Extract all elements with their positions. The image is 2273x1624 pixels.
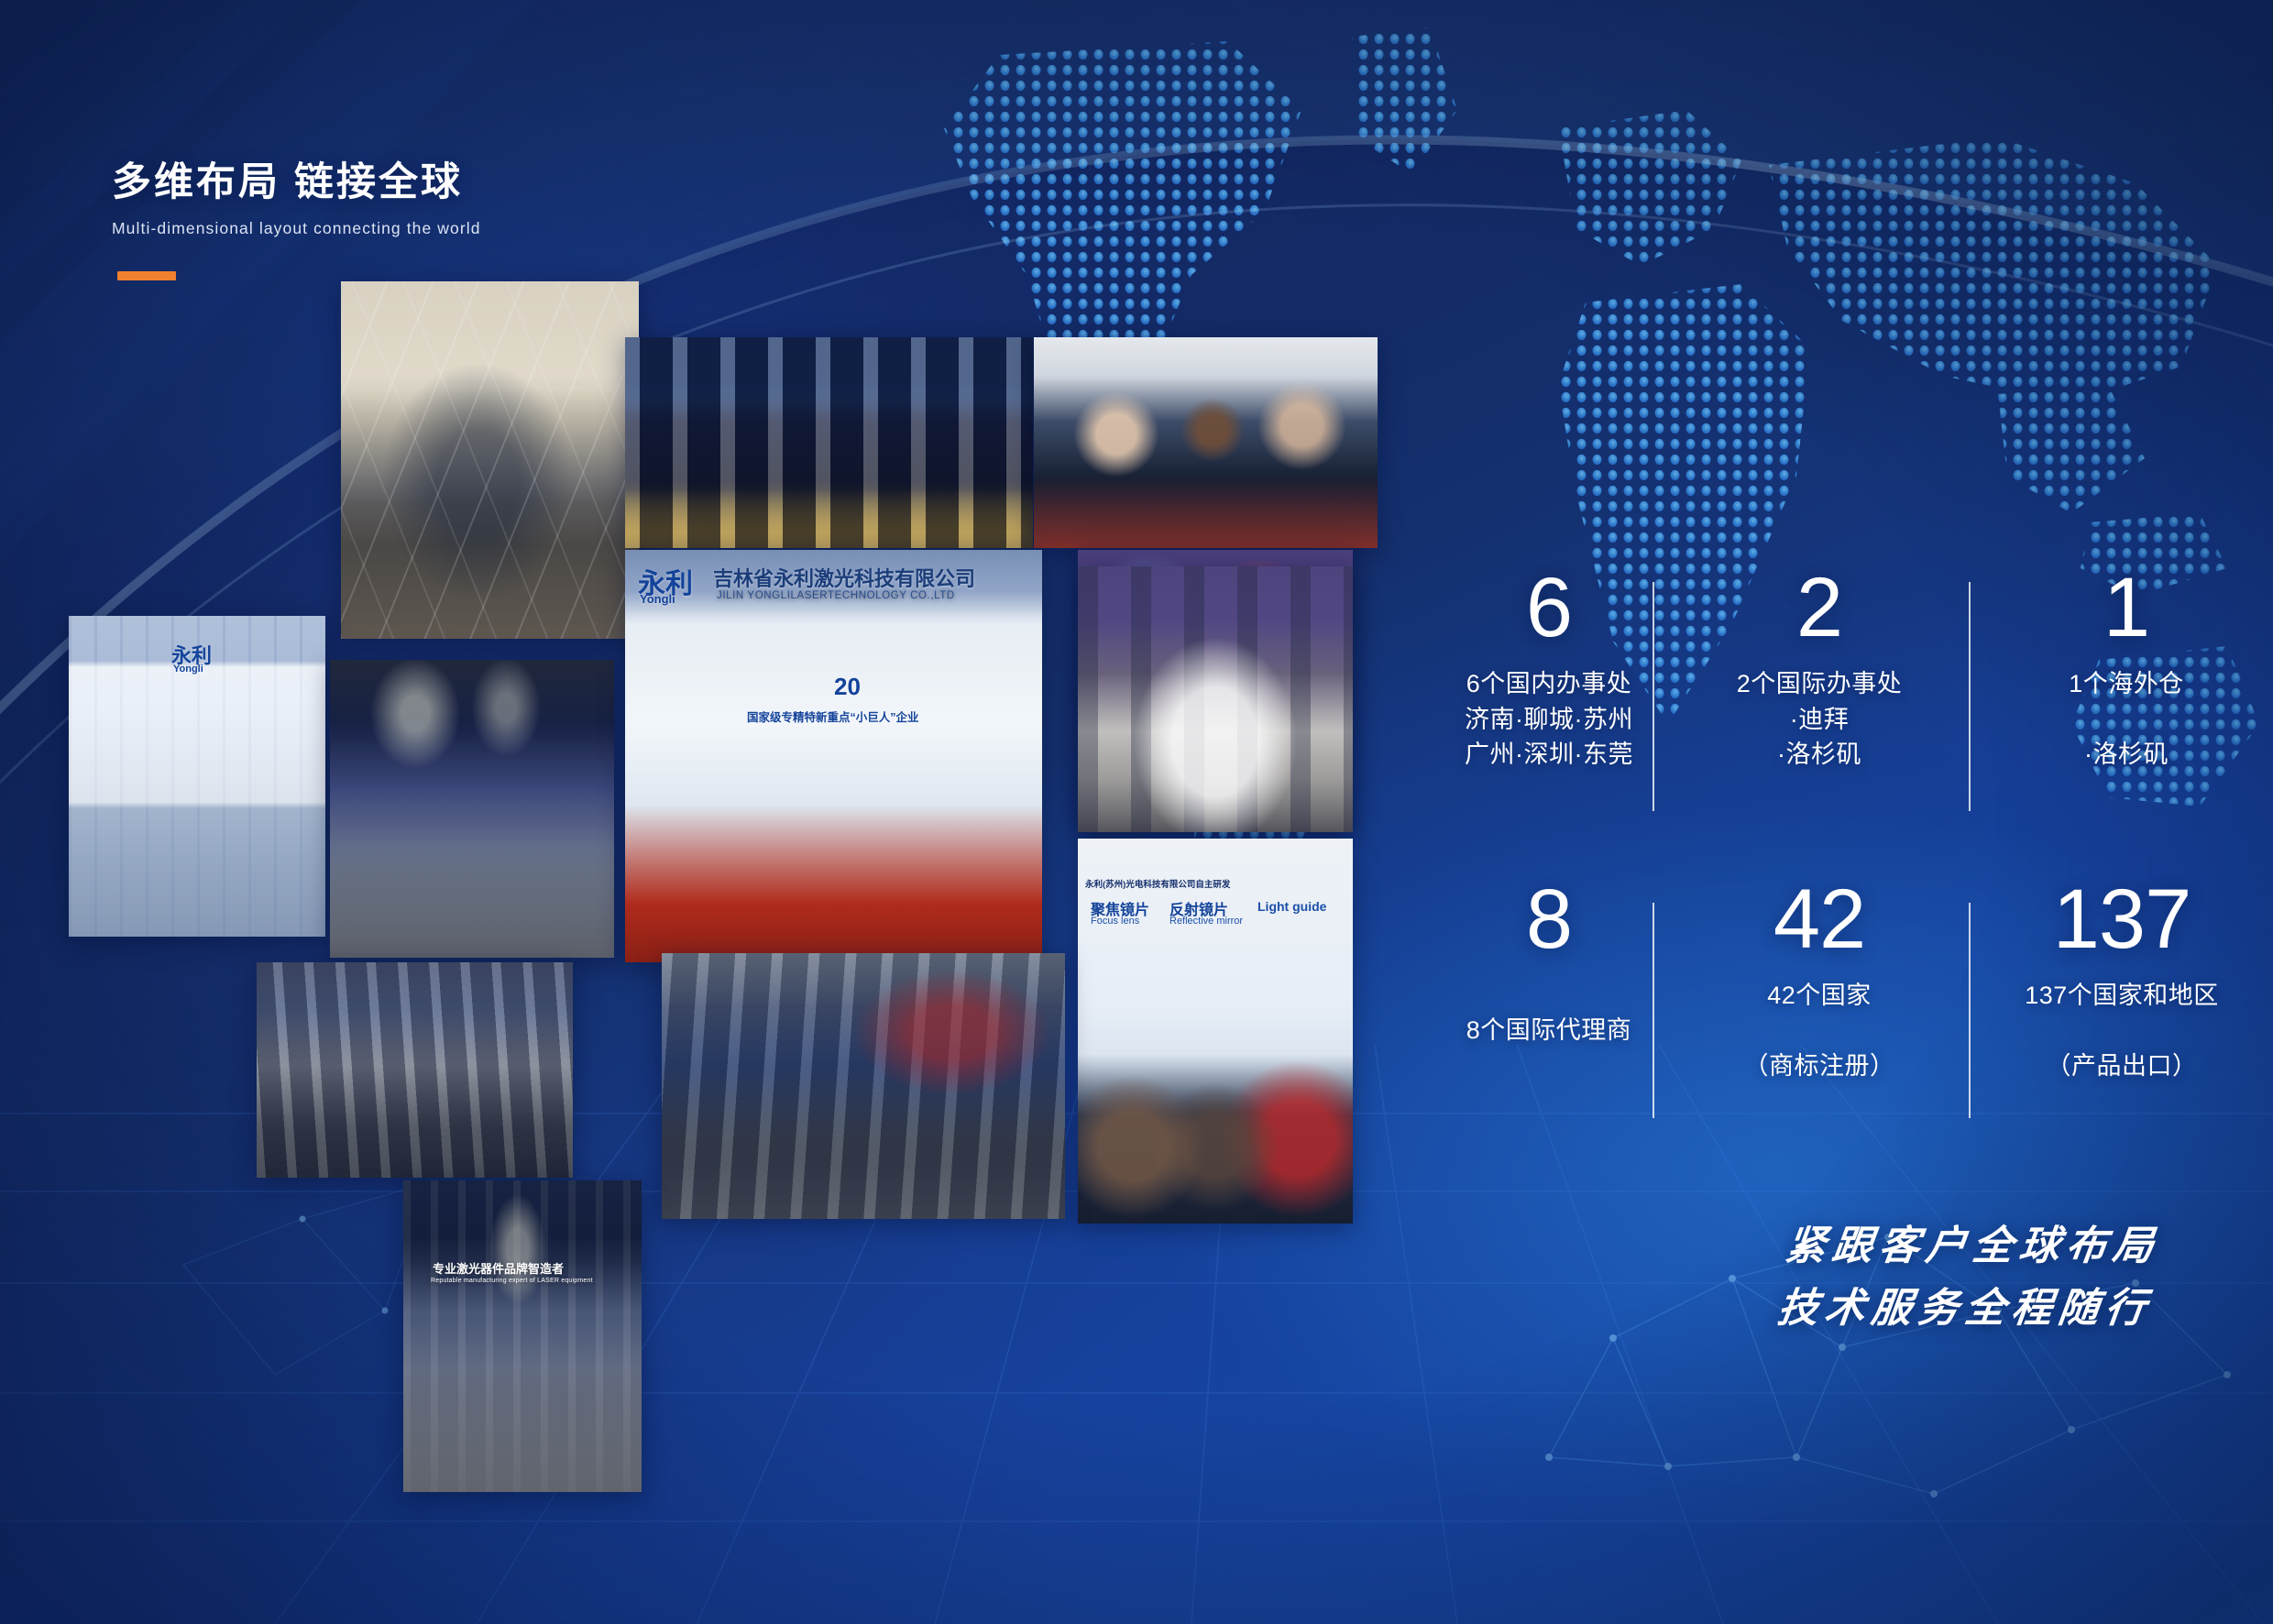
stat-export-countries: 137 137个国家和地区 （产品出口） bbox=[1980, 880, 2264, 1083]
stat-trademark-countries-label: 42个国家 （商标注册） bbox=[1686, 978, 1952, 1083]
lens-owner-label: 永利(苏州)光电科技有限公司自主研发 bbox=[1085, 877, 1230, 890]
stat-overseas-warehouse-number: 1 bbox=[1998, 568, 2255, 648]
stat-international-agents-label: 8个国际代理商 bbox=[1393, 978, 1705, 1082]
photo-booth-dark bbox=[330, 660, 614, 958]
stat-overseas-warehouse-label: 1个海外仓 ·洛杉矶 bbox=[1998, 666, 2255, 772]
poster-canvas: 多维布局 链接全球 Multi-dimensional layout conne… bbox=[0, 0, 2273, 1624]
lens-mirror-en-label: Reflective mirror bbox=[1169, 916, 1243, 927]
stat-overseas-warehouse: 1 1个海外仓 ·洛杉矶 bbox=[1998, 568, 2255, 772]
photo-team-suits bbox=[625, 337, 1033, 548]
photo-crowd-visitors bbox=[257, 962, 573, 1178]
stat-divider-1 bbox=[1653, 582, 1654, 811]
photo-lens-banner: 永利(苏州)光电科技有限公司自主研发 聚焦镜片 Focus lens 反射镜片 … bbox=[1078, 839, 1353, 1223]
stat-trademark-countries: 42 42个国家 （商标注册） bbox=[1686, 880, 1952, 1083]
stat-trademark-countries-number: 42 bbox=[1686, 880, 1952, 960]
stat-export-countries-label: 137个国家和地区 （产品出口） bbox=[1980, 978, 2264, 1083]
headline-block: 多维布局 链接全球 Multi-dimensional layout conne… bbox=[112, 161, 481, 238]
main-booth-brand-en-label: Yongli bbox=[640, 592, 675, 606]
main-booth-company-cn-label: 吉林省永利激光科技有限公司 bbox=[713, 563, 975, 592]
slogan-line-2: 技术服务全程随行 bbox=[1774, 1278, 2156, 1340]
stat-domestic-offices: 6 6个国内办事处 济南·聊城·苏州 广州·深圳·东莞 bbox=[1393, 568, 1705, 772]
page-title: 多维布局 链接全球 bbox=[112, 161, 481, 204]
lens-guide-en-label: Light guide bbox=[1257, 899, 1326, 914]
stat-domestic-offices-number: 6 bbox=[1393, 568, 1705, 648]
stat-international-offices: 2 2个国际办事处 ·迪拜 ·洛杉矶 bbox=[1686, 568, 1952, 772]
stat-international-offices-label: 2个国际办事处 ·迪拜 ·洛杉矶 bbox=[1686, 666, 1952, 772]
main-booth-award-label: 国家级专精特新重点“小巨人”企业 bbox=[747, 708, 919, 725]
stat-export-countries-number: 137 bbox=[1980, 880, 2264, 960]
stat-international-offices-number: 2 bbox=[1686, 568, 1952, 648]
calligraphy-slogan: 紧跟客户全球布局 技术服务全程随行 bbox=[1774, 1215, 2164, 1340]
orange-accent-bar bbox=[117, 271, 176, 280]
night-booth-slogan-cn-label: 专业激光器件品牌智造者 bbox=[433, 1259, 564, 1277]
photo-showroom-timeline: 永利 Yongli bbox=[69, 616, 325, 937]
photo-expo-hall bbox=[662, 953, 1065, 1219]
slogan-line-1: 紧跟客户全球布局 bbox=[1782, 1215, 2163, 1278]
stat-divider-3 bbox=[1653, 903, 1654, 1118]
main-booth-anniversary-label: 20 bbox=[834, 673, 861, 701]
main-booth-company-en-label: JILIN YONGLILASERTECHNOLOGY CO.,LTD bbox=[717, 590, 955, 601]
stat-divider-2 bbox=[1969, 582, 1971, 811]
photo-main-booth: 永利 Yongli 吉林省永利激光科技有限公司 JILIN YONGLILASE… bbox=[625, 550, 1042, 962]
stat-international-agents-number: 8 bbox=[1393, 880, 1705, 960]
night-booth-slogan-en-label: Reputable manufacturing expert of LASER … bbox=[431, 1278, 593, 1284]
stat-divider-4 bbox=[1969, 903, 1971, 1118]
stat-domestic-offices-label: 6个国内办事处 济南·聊城·苏州 广州·深圳·东莞 bbox=[1393, 666, 1705, 772]
photo-expo-booth-night: 专业激光器件品牌智造者 Reputable manufacturing expe… bbox=[403, 1180, 642, 1492]
photo-customer-talk bbox=[1034, 337, 1378, 548]
page-subtitle: Multi-dimensional layout connecting the … bbox=[112, 219, 481, 238]
photo-meeting-room bbox=[341, 281, 639, 639]
showroom-brand-en-label: Yongli bbox=[173, 664, 203, 675]
lens-focus-en-label: Focus lens bbox=[1091, 916, 1139, 927]
stat-international-agents: 8 8个国际代理商 bbox=[1393, 880, 1705, 1083]
photo-dinner-gathering bbox=[1078, 566, 1353, 832]
